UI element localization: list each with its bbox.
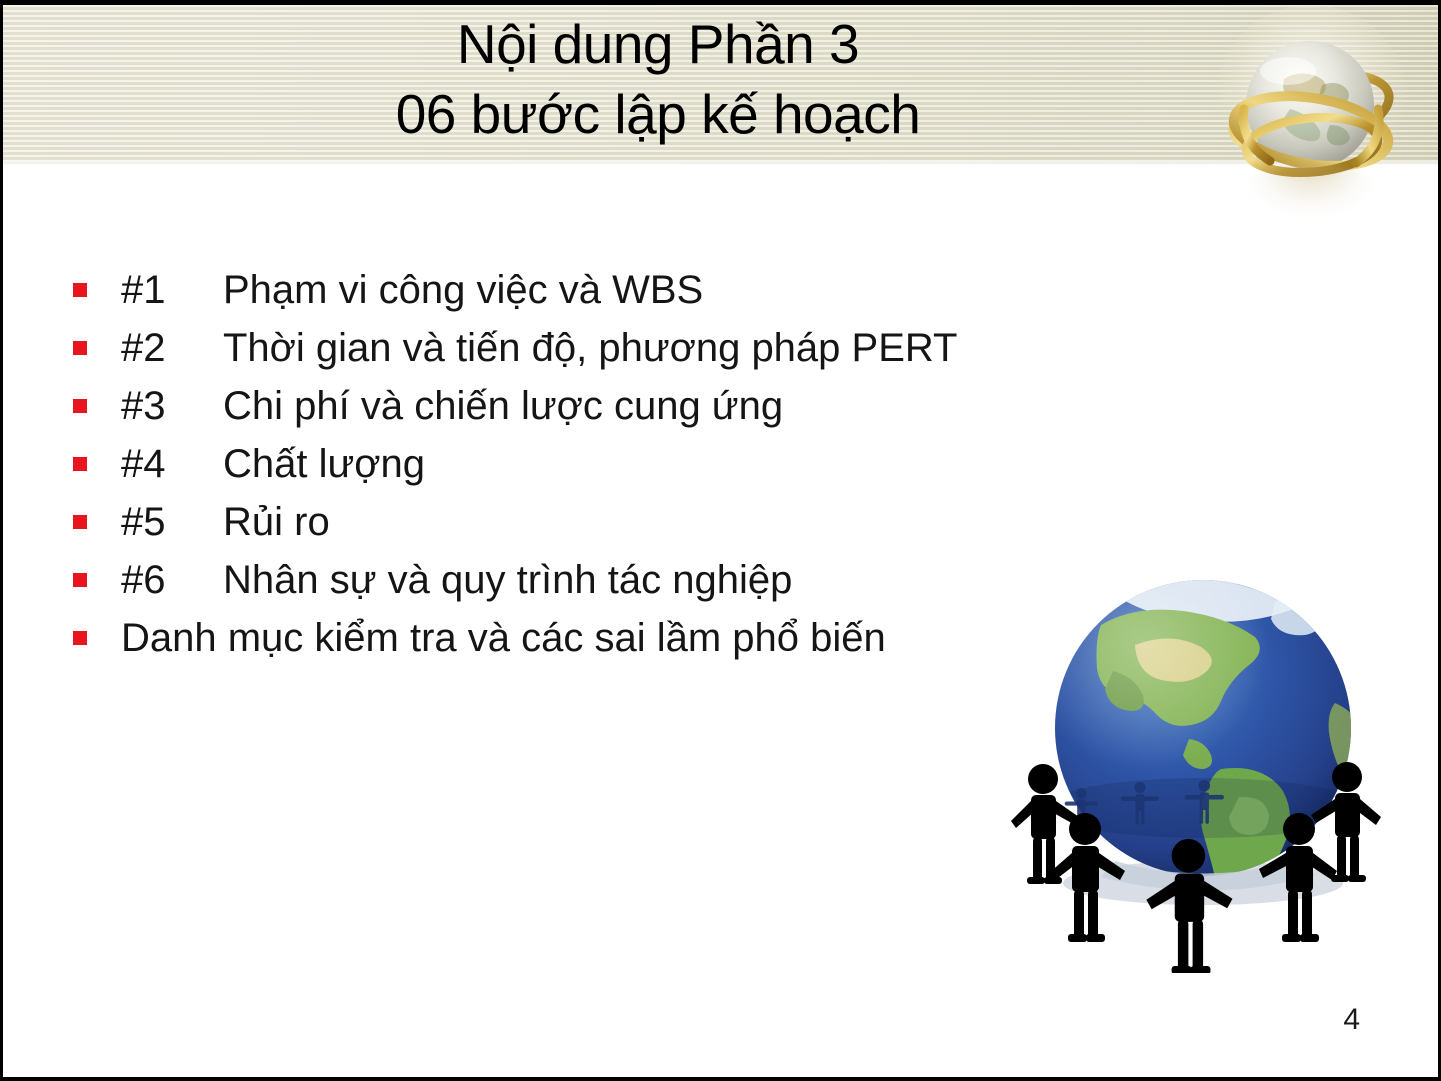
title-line-1: Nội dung Phần 3	[3, 9, 1313, 79]
slide-page-number: 4	[1343, 1003, 1360, 1037]
list-item-number: #6	[121, 553, 223, 607]
bullet-square-icon	[73, 515, 87, 529]
bullet-square-icon	[73, 341, 87, 355]
list-item: #4 Chất lượng	[73, 437, 1173, 495]
list-item-number: #4	[121, 437, 223, 491]
presentation-slide: Nội dung Phần 3 06 bước lập kế hoạch	[0, 0, 1441, 1081]
list-item-label: Nhân sự và quy trình tác nghiệp	[223, 553, 792, 607]
list-item-number: #1	[121, 263, 223, 317]
list-item-label: Rủi ro	[223, 495, 330, 549]
content-bullet-list: #1 Phạm vi công việc và WBS #2 Thời gian…	[73, 263, 1173, 669]
list-item-label: Chi phí và chiến lược cung ứng	[223, 379, 783, 433]
list-item-label: Thời gian và tiến độ, phương pháp PERT	[223, 321, 958, 375]
list-item: #3 Chi phí và chiến lược cung ứng	[73, 379, 1173, 437]
list-item-number: #2	[121, 321, 223, 375]
list-item: #5 Rủi ro	[73, 495, 1173, 553]
bullet-square-icon	[73, 283, 87, 297]
list-item-label: Phạm vi công việc và WBS	[223, 263, 703, 317]
list-item-number: #3	[121, 379, 223, 433]
globe-with-gold-rings-icon	[1226, 13, 1396, 218]
list-item-number: #5	[121, 495, 223, 549]
list-item: #1 Phạm vi công việc và WBS	[73, 263, 1173, 321]
bullet-square-icon	[73, 399, 87, 413]
list-item: Danh mục kiểm tra và các sai lầm phổ biế…	[73, 611, 1173, 669]
list-item: #6 Nhân sự và quy trình tác nghiệp	[73, 553, 1173, 611]
globe-reflection	[1246, 163, 1376, 215]
list-item: #2 Thời gian và tiến độ, phương pháp PER…	[73, 321, 1173, 379]
bullet-square-icon	[73, 631, 87, 645]
page-title: Nội dung Phần 3 06 bước lập kế hoạch	[3, 9, 1313, 149]
bullet-square-icon	[73, 457, 87, 471]
list-item-label: Danh mục kiểm tra và các sai lầm phổ biế…	[121, 611, 886, 665]
bullet-square-icon	[73, 573, 87, 587]
list-item-label: Chất lượng	[223, 437, 425, 491]
title-line-2: 06 bước lập kế hoạch	[3, 79, 1313, 149]
